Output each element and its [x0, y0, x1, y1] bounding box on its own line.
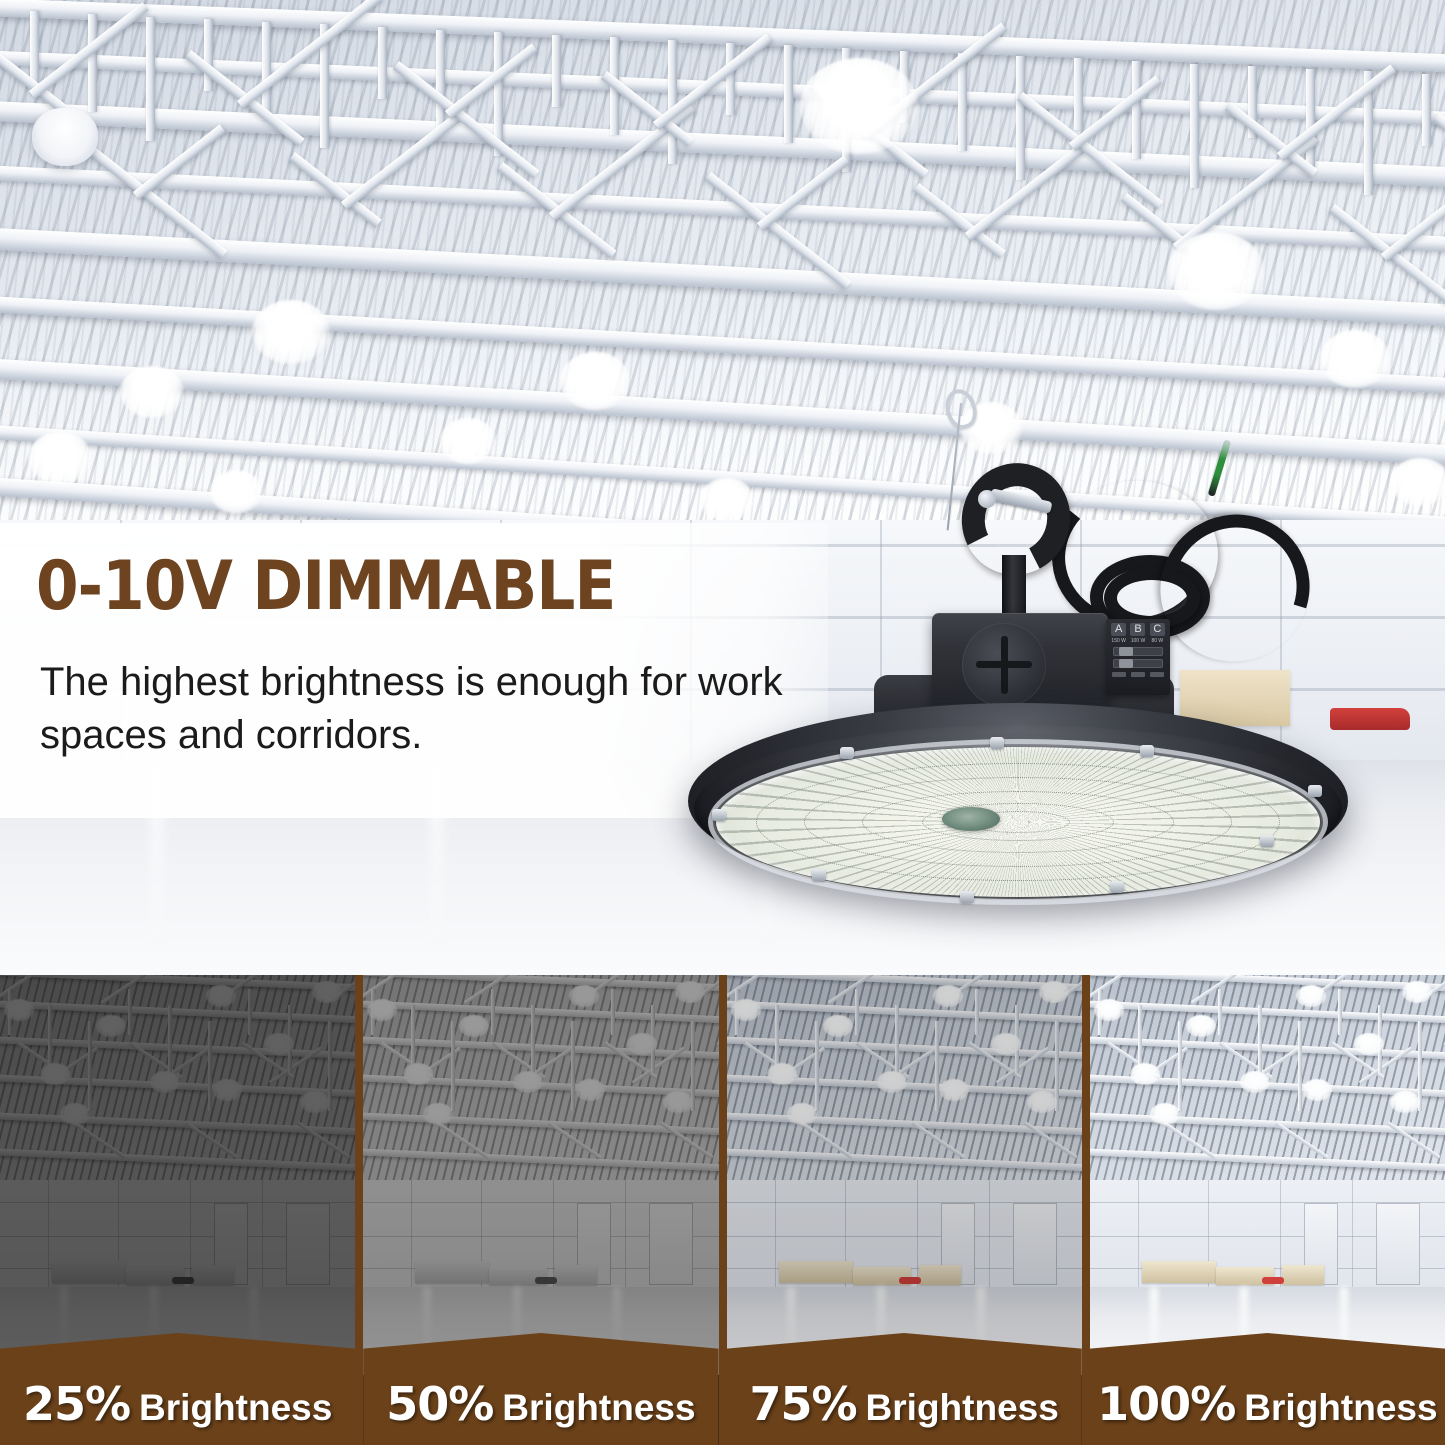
truss-post — [1422, 74, 1431, 146]
truss-post — [552, 35, 561, 107]
warehouse-thumbnail — [363, 975, 718, 1375]
thumb-lamp — [933, 985, 963, 1007]
truss-post — [668, 40, 677, 164]
truss-post — [1016, 56, 1025, 180]
ceiling-lamp-glow — [440, 418, 496, 464]
ground-wire — [1208, 439, 1232, 497]
hero-photo: 0-10V DIMMABLE The highest brightness is… — [0, 0, 1445, 975]
thumb-post — [935, 1021, 939, 1111]
brightness-caption: 25%Brightness — [0, 1377, 355, 1431]
thumb-post — [1178, 1021, 1182, 1111]
warehouse-thumbnail — [727, 975, 1082, 1375]
thumb-lamp — [877, 1071, 907, 1093]
thumb-lamp — [1296, 985, 1326, 1007]
ceiling-lamp-glow — [1390, 458, 1445, 506]
thumb-lamp — [1150, 1103, 1180, 1125]
ceiling-lamp-glow — [1320, 330, 1390, 388]
thumb-lamp — [212, 1079, 242, 1101]
truss-post — [262, 22, 271, 120]
thumb-post — [248, 989, 252, 1035]
warehouse-thumbnail — [1090, 975, 1445, 1375]
brightness-word: Brightness — [866, 1387, 1059, 1428]
thumb-lamp — [1039, 981, 1069, 1003]
thumb-post — [815, 1021, 819, 1111]
brightness-word: Brightness — [139, 1387, 332, 1428]
product-feature-image: 0-10V DIMMABLE The highest brightness is… — [0, 0, 1445, 1445]
thumb-lamp — [264, 1033, 294, 1055]
truss-post — [1132, 61, 1141, 159]
dip-switch-1[interactable] — [1113, 647, 1163, 656]
selector-channel-a: A — [1111, 623, 1126, 636]
thumb-post — [88, 1021, 92, 1111]
truss-post — [784, 45, 793, 143]
brightness-percent: 75% — [749, 1377, 856, 1431]
thumb-post — [451, 1021, 455, 1111]
brightness-panel-50: 50%Brightness — [363, 975, 718, 1445]
thumb-lamp — [40, 1063, 70, 1085]
brightness-panel-100: 100%Brightness — [1090, 975, 1445, 1445]
thumb-lamp — [787, 1103, 817, 1125]
thumb-lamp — [96, 1015, 126, 1037]
thumb-post — [531, 1005, 535, 1073]
thumb-lamp — [206, 985, 236, 1007]
thumb-lamp — [60, 1103, 90, 1125]
truss-post — [726, 43, 735, 115]
thumb-post — [1258, 1005, 1262, 1073]
ceiling-lamp-glow — [120, 366, 184, 418]
thumb-lamp — [1240, 1071, 1270, 1093]
watt-mark-b: 100 W — [1129, 638, 1146, 644]
thumb-lamp — [1390, 1091, 1420, 1113]
brightness-caption: 100%Brightness — [1090, 1377, 1445, 1431]
warehouse-thumbnail — [0, 975, 355, 1375]
brightness-caption: 50%Brightness — [363, 1377, 718, 1431]
ceiling-lamp-glow — [28, 432, 92, 484]
brightness-comparison-strip: 25%Brightness — [0, 975, 1445, 1445]
watt-mark-a: 150 W — [1110, 638, 1127, 644]
truss-post — [436, 30, 445, 128]
thumb-lamp — [823, 1015, 853, 1037]
thumb-lamp — [312, 981, 342, 1003]
brightness-panel-25: 25%Brightness — [0, 975, 355, 1445]
hook-screw — [978, 490, 996, 508]
wattage-selector-label[interactable]: A B C 150 W 100 W 80 W — [1106, 619, 1170, 695]
thumb-door — [286, 1203, 330, 1285]
ceiling-lamp-glow — [800, 58, 918, 154]
thumb-door — [1013, 1203, 1057, 1285]
thumb-lamp — [1402, 981, 1432, 1003]
thumb-door — [649, 1203, 693, 1285]
thumb-lamp — [1354, 1033, 1384, 1055]
cross-slot-vertical — [1001, 636, 1008, 694]
thumb-lamp — [150, 1071, 180, 1093]
truss-post — [146, 17, 155, 141]
thumb-lamp — [1130, 1063, 1160, 1085]
brightness-panel-75: 75%Brightness — [727, 975, 1082, 1445]
watt-mark-c: 80 W — [1149, 638, 1166, 644]
truss-post — [1306, 69, 1315, 167]
brightness-percent: 25% — [23, 1377, 130, 1431]
truss-post — [1074, 58, 1083, 130]
thumb-lamp — [300, 1091, 330, 1113]
truss-post — [1190, 64, 1199, 188]
brightness-percent: 100% — [1097, 1377, 1235, 1431]
thumb-post — [491, 989, 495, 1035]
thumb-post — [1218, 989, 1222, 1035]
page-title: 0-10V DIMMABLE — [36, 553, 615, 621]
thumb-lamp — [4, 999, 34, 1021]
led-high-bay-fixture: A B C 150 W 100 W 80 W — [660, 395, 1360, 940]
ceiling-lamp-glow — [210, 470, 262, 514]
thumb-lamp — [1094, 999, 1124, 1021]
truss-post — [88, 14, 97, 112]
thumb-lamp — [1186, 1015, 1216, 1037]
brightness-word: Brightness — [502, 1387, 695, 1428]
selector-channel-b: B — [1130, 623, 1145, 636]
thumb-lamp — [1027, 1091, 1057, 1113]
brightness-percent: 50% — [386, 1377, 493, 1431]
thumb-door — [1376, 1203, 1420, 1285]
thumb-post — [895, 1005, 899, 1073]
thumb-lamp — [939, 1079, 969, 1101]
thumb-lamp — [731, 999, 761, 1021]
thumb-post — [611, 989, 615, 1035]
ceiling-lamp-glow — [1168, 232, 1264, 310]
brightness-caption: 75%Brightness — [727, 1377, 1082, 1431]
ceiling-lamp-fixture — [32, 108, 98, 166]
thumb-post — [168, 1005, 172, 1073]
thumb-post — [1338, 989, 1342, 1035]
thumb-lamp — [1302, 1079, 1332, 1101]
lens-center-hub — [942, 807, 1000, 831]
selector-channel-c: C — [1150, 623, 1165, 636]
thumb-lamp — [991, 1033, 1021, 1055]
thumb-post — [571, 1021, 575, 1111]
thumb-post — [1298, 1021, 1302, 1111]
thumb-post — [128, 989, 132, 1035]
dip-switch-2[interactable] — [1113, 659, 1163, 668]
truss-post — [204, 19, 213, 91]
ceiling-lamp-glow — [560, 352, 630, 410]
thumb-post — [975, 989, 979, 1035]
thumb-post — [208, 1021, 212, 1111]
brightness-word: Brightness — [1244, 1387, 1437, 1428]
truss-post — [30, 11, 39, 83]
thumb-lamp — [767, 1063, 797, 1085]
truss-post — [378, 27, 387, 99]
led-lens — [716, 747, 1320, 897]
ceiling-lamp-glow — [252, 300, 330, 364]
thumb-post — [855, 989, 859, 1035]
